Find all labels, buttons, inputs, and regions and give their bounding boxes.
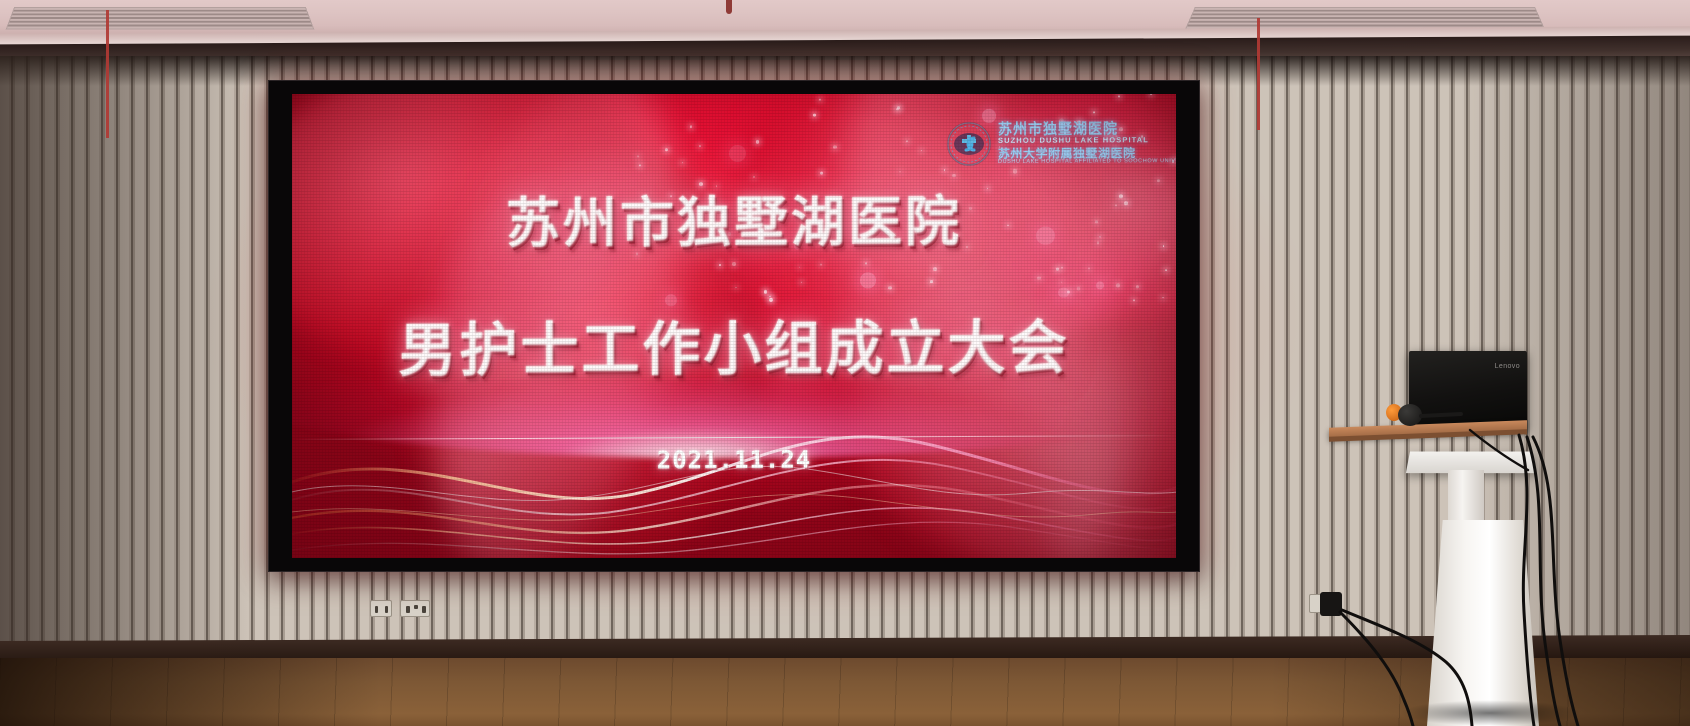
hospital-emblem-icon [946, 121, 992, 167]
plugged-adapter [1320, 592, 1342, 616]
lectern-neck [1448, 470, 1484, 524]
red-cable-right [1257, 18, 1260, 130]
red-cable-left [106, 10, 109, 138]
ceiling-vent-left-icon [6, 7, 315, 29]
logo-english-line-2: DUSHU LAKE HOSPITAL AFFILIATED TO SOOCHO… [998, 159, 1176, 166]
ceiling-drop-fitting [726, 0, 732, 14]
banner-date: 2021.11.24 [292, 444, 1176, 476]
wall-outlet-left-a[interactable] [370, 600, 392, 617]
conference-room-scene: 苏州市独墅湖医院 男护士工作小组成立大会 2021.11.24 [0, 0, 1690, 726]
banner-title-sub: 男护士工作小组成立大会 [292, 300, 1176, 388]
wall-outlet-left-b[interactable] [400, 600, 430, 617]
lenovo-brand-label: Lenovo [1495, 363, 1520, 370]
lectern-body [1427, 520, 1539, 726]
hospital-logo-block: 苏州市独墅湖医院 SUZHOU DUSHU LAKE HOSPITAL 苏州大学… [946, 108, 1166, 179]
led-wall-display[interactable]: 苏州市独墅湖医院 男护士工作小组成立大会 2021.11.24 [292, 94, 1176, 558]
banner-title-main: 苏州市独墅湖医院 [292, 176, 1176, 259]
ceiling-vent-right-icon [1185, 7, 1545, 29]
logo-chinese-line-1: 苏州市独墅湖医院 [998, 120, 1176, 137]
floor-shadow-left [0, 658, 380, 726]
lectern-floor-shadow [1400, 700, 1580, 726]
